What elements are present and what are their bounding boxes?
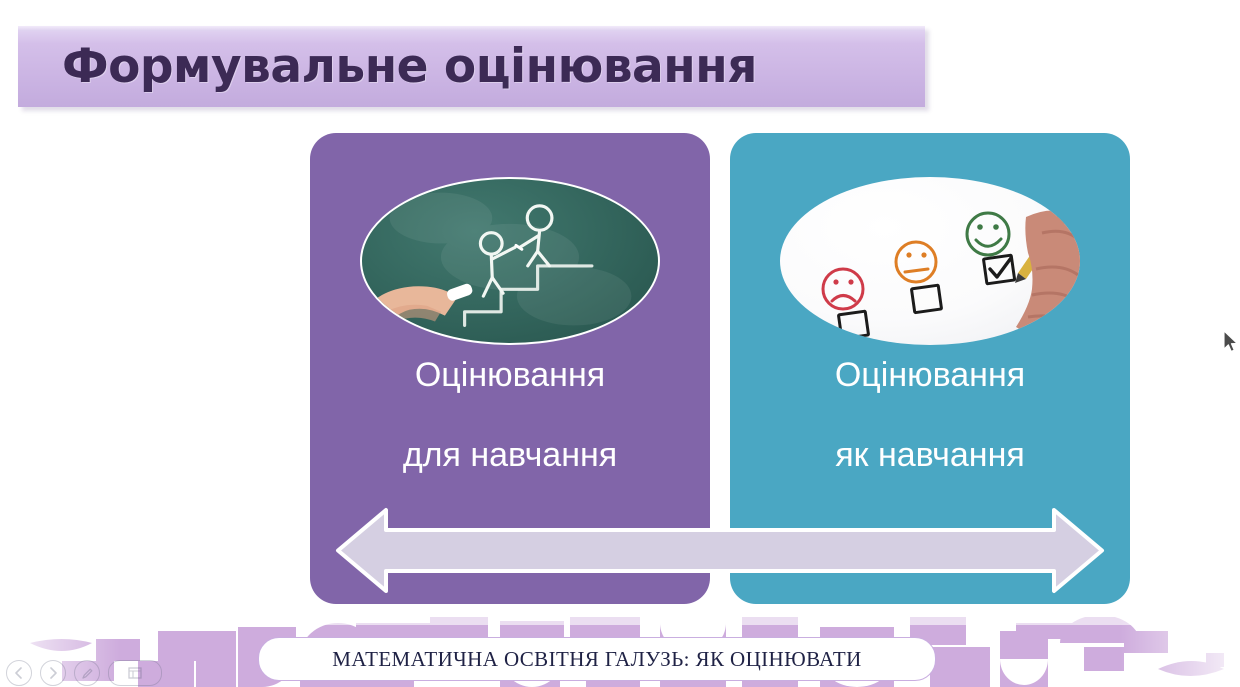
previous-slide-button[interactable] bbox=[6, 660, 32, 686]
slide-menu-button[interactable] bbox=[108, 660, 162, 686]
paper-oval bbox=[780, 177, 1080, 345]
presentation-playback-controls[interactable] bbox=[6, 660, 162, 686]
card-left-caption-line1: Оцінювання bbox=[310, 358, 710, 394]
card-left-caption-line2: для навчання bbox=[310, 438, 710, 474]
hand-with-chalk bbox=[362, 282, 474, 343]
checkbox-sad bbox=[838, 311, 868, 339]
smiley-rating-checklist bbox=[780, 177, 1080, 345]
pen-icon bbox=[81, 667, 94, 680]
hand-with-pen bbox=[1015, 185, 1080, 332]
double-headed-arrow bbox=[330, 502, 1110, 599]
neutral-face-icon bbox=[896, 242, 936, 282]
mouse-pointer bbox=[1222, 330, 1238, 354]
chalkboard-oval bbox=[360, 177, 660, 345]
chalkboard-image bbox=[360, 177, 660, 345]
sad-face-icon bbox=[823, 269, 863, 309]
footer-title-text: МАТЕМАТИЧНА ОСВІТНЯ ГАЛУЗЬ: ЯК ОЦІНЮВАТИ bbox=[332, 647, 861, 672]
survey-checklist-image bbox=[780, 177, 1080, 345]
card-right-caption-line1: Оцінювання bbox=[730, 358, 1130, 394]
grid-menu-icon bbox=[128, 667, 142, 679]
slide-title-banner: Формувальне оцінювання bbox=[18, 26, 925, 107]
page-title: Формувальне оцінювання bbox=[62, 43, 757, 90]
checkbox-neutral bbox=[911, 285, 941, 313]
checkbox-happy-checked bbox=[983, 255, 1014, 284]
happy-face-icon bbox=[967, 213, 1009, 255]
footer-title-pill: МАТЕМАТИЧНА ОСВІТНЯ ГАЛУЗЬ: ЯК ОЦІНЮВАТИ bbox=[258, 637, 936, 681]
chevron-left-icon bbox=[14, 667, 24, 679]
arrow-shape bbox=[330, 502, 1110, 599]
pen-tool-button[interactable] bbox=[74, 660, 100, 686]
next-slide-button[interactable] bbox=[40, 660, 66, 686]
chevron-right-icon bbox=[48, 667, 58, 679]
card-right-caption-line2: як навчання bbox=[730, 438, 1130, 474]
chalk-drawing-stick-figures bbox=[362, 179, 658, 343]
presentation-slide: Формувальне оцінювання bbox=[0, 0, 1240, 687]
